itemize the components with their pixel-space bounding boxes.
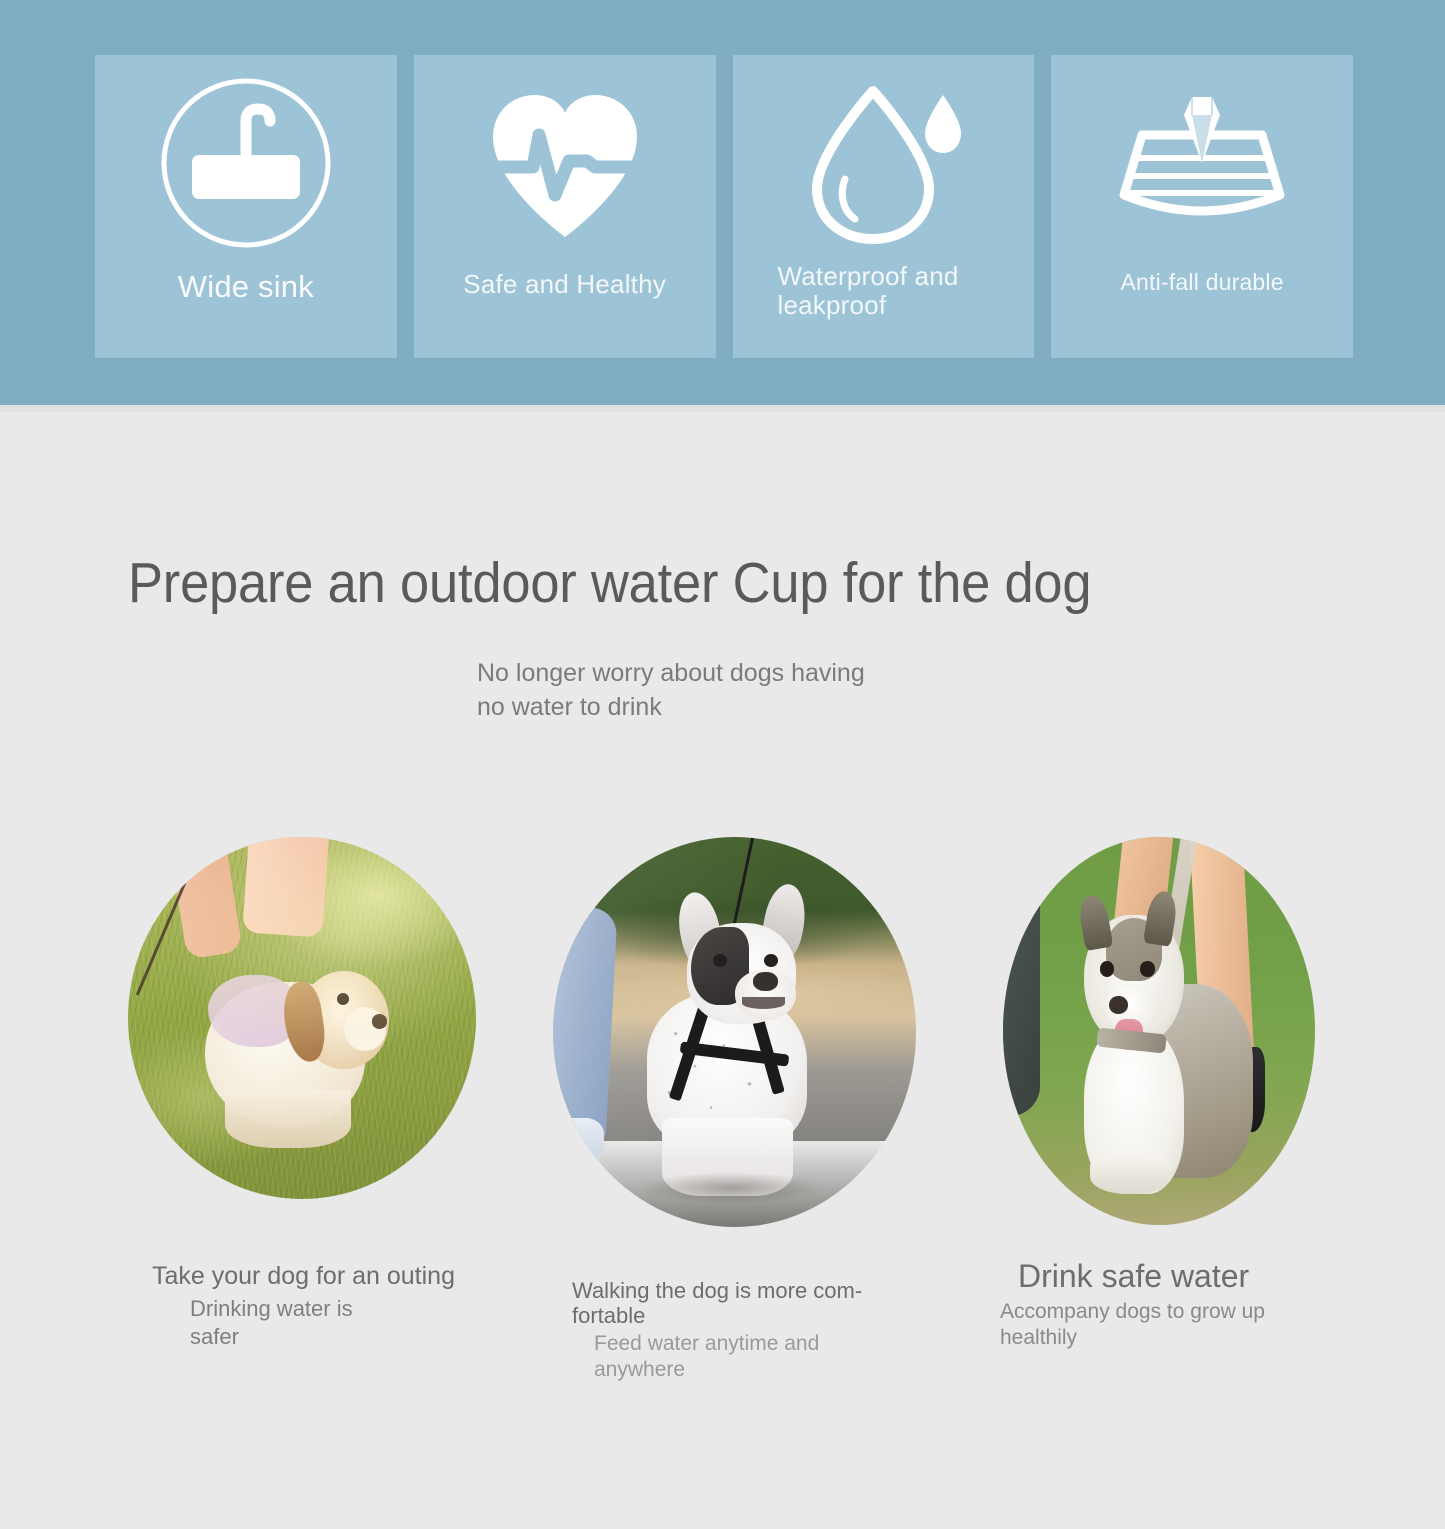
feature-card-wide-sink: Wide sink: [95, 55, 397, 358]
caption-subtitle: Feed water anytime andanywhere: [594, 1331, 882, 1384]
product-detail-page: Wide sink Safe and Healthy: [0, 0, 1445, 1529]
feature-label: Wide sink: [95, 270, 397, 305]
feature-label: Safe and Healthy: [414, 270, 716, 299]
caption-subtitle: Accompany dogs to grow uphealthily: [1000, 1299, 1340, 1352]
water-drop-icon: [733, 55, 1035, 270]
page-title: Prepare an outdoor water Cup for the dog: [128, 550, 1232, 616]
caption-title: Take your dog for an outing: [152, 1262, 552, 1291]
feature-banner: Wide sink Safe and Healthy: [0, 0, 1445, 405]
caption-title: Walking the dog is more com-fortable: [572, 1278, 882, 1328]
caption-1: Take your dog for an outing Drinking wat…: [152, 1262, 552, 1350]
photo-gallery: [0, 837, 1445, 1257]
husky-photo: [1003, 837, 1315, 1225]
gallery-item-3: [1003, 837, 1315, 1225]
heart-pulse-icon: [414, 55, 716, 270]
page-subtitle: No longer worry about dogs havingno wate…: [477, 657, 1037, 724]
caption-title: Drink safe water: [1018, 1258, 1340, 1295]
french-bulldog-photo: [553, 837, 916, 1227]
caption-2: Walking the dog is more com-fortable Fee…: [572, 1278, 882, 1384]
sink-circle-icon: [95, 55, 397, 270]
dog-outing-photo: [128, 837, 476, 1199]
banner-seam-divider: [0, 405, 1445, 412]
feature-card-waterproof-leakproof: Waterproof andleakproof: [733, 55, 1035, 358]
feature-card-safe-and-healthy: Safe and Healthy: [414, 55, 716, 358]
caption-subtitle: Drinking water issafer: [190, 1295, 552, 1350]
feature-card-list: Wide sink Safe and Healthy: [95, 55, 1353, 358]
feature-card-anti-fall-durable: Anti-fall durable: [1051, 55, 1353, 358]
gallery-item-1: [128, 837, 476, 1199]
diamond-bowl-icon: [1051, 55, 1353, 270]
caption-3: Drink safe water Accompany dogs to grow …: [1000, 1258, 1340, 1352]
feature-label: Anti-fall durable: [1051, 270, 1353, 296]
feature-label: Waterproof andleakproof: [733, 262, 1035, 320]
gallery-item-2: [553, 837, 916, 1227]
